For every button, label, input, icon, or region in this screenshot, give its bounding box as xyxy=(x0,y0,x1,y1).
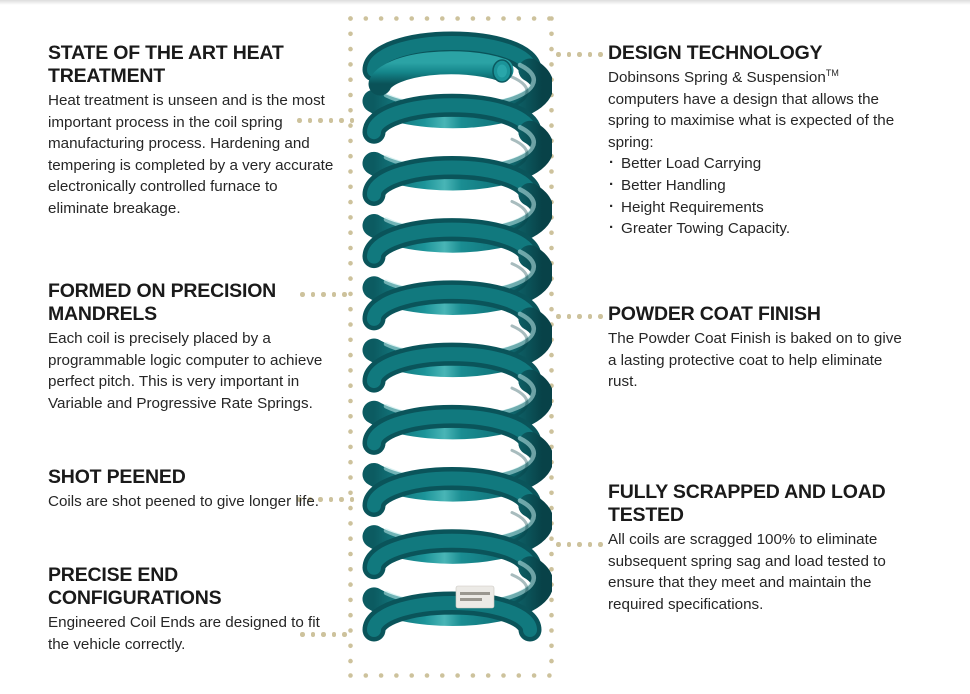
feature-precision-mandrels: FORMED ON PRECISION MANDRELS Each coil i… xyxy=(48,280,340,414)
list-item: Better Handling xyxy=(608,175,908,197)
brand-name: Dobinsons Spring & Suspension xyxy=(608,69,826,86)
feature-precise-end: PRECISE END CONFIGURATIONS Engineered Co… xyxy=(48,564,340,655)
feature-shot-peened-heading: SHOT PEENED xyxy=(48,466,340,489)
coil-spring-illustration xyxy=(352,18,552,678)
connector-load-tested xyxy=(556,542,606,547)
feature-load-tested: FULLY SCRAPPED AND LOAD TESTED All coils… xyxy=(608,481,908,615)
feature-load-tested-heading: FULLY SCRAPPED AND LOAD TESTED xyxy=(608,481,908,527)
coil-spring-image xyxy=(352,18,552,678)
feature-powder-coat: POWDER COAT FINISH The Powder Coat Finis… xyxy=(608,303,908,393)
list-item: Height Requirements xyxy=(608,197,908,219)
connector-powder-coat xyxy=(556,314,606,319)
connector-design-technology xyxy=(556,52,606,57)
feature-heat-treatment-body: Heat treatment is unseen and is the most… xyxy=(48,90,340,220)
feature-design-technology-body: Dobinsons Spring & SuspensionTM computer… xyxy=(608,67,908,153)
feature-load-tested-body: All coils are scragged 100% to eliminate… xyxy=(608,529,908,615)
feature-powder-coat-body: The Powder Coat Finish is baked on to gi… xyxy=(608,328,908,393)
feature-powder-coat-heading: POWDER COAT FINISH xyxy=(608,303,908,326)
feature-design-technology-heading: DESIGN TECHNOLOGY xyxy=(608,42,908,65)
design-technology-bullet-list: Better Load Carrying Better Handling Hei… xyxy=(608,153,908,239)
feature-precise-end-body: Engineered Coil Ends are designed to fit… xyxy=(48,612,340,655)
list-item: Better Load Carrying xyxy=(608,153,908,175)
feature-precision-mandrels-heading: FORMED ON PRECISION MANDRELS xyxy=(48,280,340,326)
feature-design-technology-body-rest: computers have a design that allows the … xyxy=(608,91,894,151)
feature-precision-mandrels-body: Each coil is precisely placed by a progr… xyxy=(48,328,340,414)
infographic-stage: STATE OF THE ART HEAT TREATMENT Heat tre… xyxy=(0,0,970,694)
feature-precise-end-heading: PRECISE END CONFIGURATIONS xyxy=(48,564,340,610)
list-item: Greater Towing Capacity. xyxy=(608,218,908,240)
feature-design-technology: DESIGN TECHNOLOGY Dobinsons Spring & Sus… xyxy=(608,42,908,240)
feature-heat-treatment: STATE OF THE ART HEAT TREATMENT Heat tre… xyxy=(48,42,340,220)
feature-shot-peened-body: Coils are shot peened to give longer lif… xyxy=(48,491,340,513)
spring-product-label xyxy=(456,586,494,608)
trademark-mark: TM xyxy=(826,68,839,78)
feature-shot-peened: SHOT PEENED Coils are shot peened to giv… xyxy=(48,466,340,513)
feature-heat-treatment-heading: STATE OF THE ART HEAT TREATMENT xyxy=(48,42,340,88)
